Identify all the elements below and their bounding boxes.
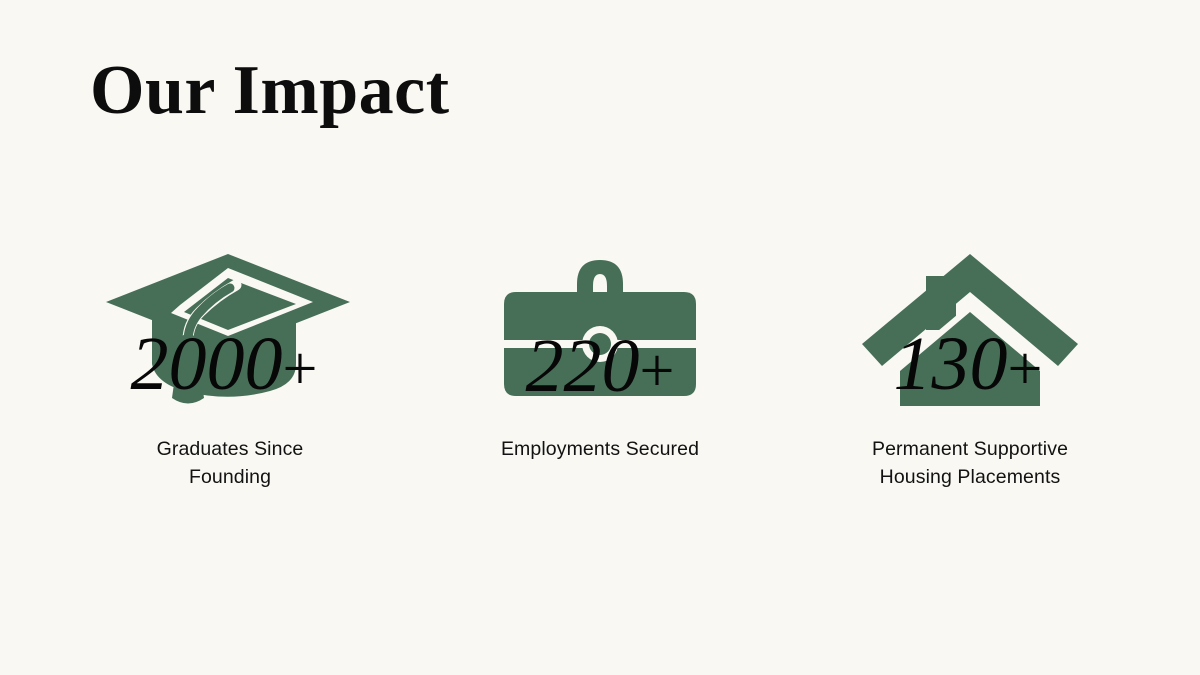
stat-label-employments: Employments Secured: [501, 435, 699, 463]
stat-label-graduates: Graduates Since Founding: [125, 435, 335, 492]
stat-suffix: +: [283, 335, 318, 403]
impact-slide: Our Impact: [0, 0, 1200, 675]
stat-value-housing: 130+: [838, 326, 1098, 402]
impact-stats-row: 2000+ Graduates Since Founding 220+: [0, 248, 1200, 492]
stat-visual-graduates: 2000+: [100, 248, 360, 413]
stat-card-employments: 220+ Employments Secured: [430, 248, 770, 463]
stat-suffix: +: [640, 337, 675, 405]
stat-value-employments: 220+: [470, 328, 730, 404]
stat-number-text: 130: [894, 322, 1008, 406]
page-title: Our Impact: [90, 56, 450, 126]
stat-visual-housing: 130+: [840, 248, 1100, 413]
stat-value-graduates: 2000+: [94, 326, 354, 402]
stat-label-housing: Permanent Supportive Housing Placements: [840, 435, 1100, 492]
stat-number-text: 220: [526, 324, 640, 408]
stat-number-text: 2000: [131, 322, 283, 406]
stat-card-graduates: 2000+ Graduates Since Founding: [60, 248, 400, 492]
stat-visual-employments: 220+: [470, 248, 730, 413]
stat-card-housing: 130+ Permanent Supportive Housing Placem…: [800, 248, 1140, 492]
stat-suffix: +: [1008, 335, 1043, 403]
